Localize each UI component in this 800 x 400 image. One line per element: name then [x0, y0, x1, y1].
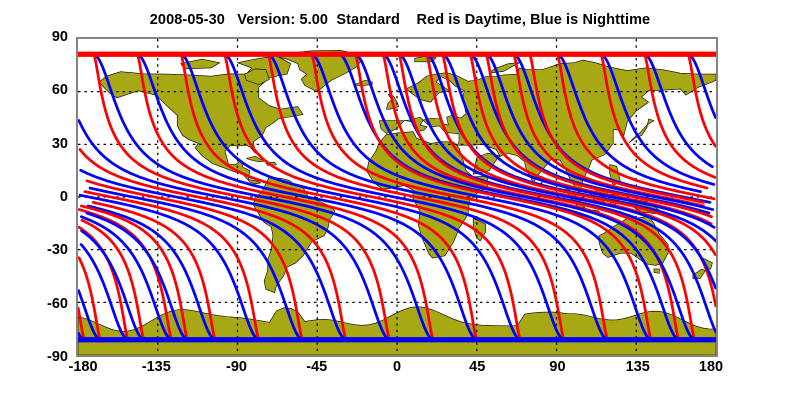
- y-tick--90: -90: [8, 350, 68, 365]
- x-tick--45: -45: [306, 360, 327, 375]
- y-tick-60: 60: [8, 83, 68, 98]
- x-tick--135: -135: [142, 360, 171, 375]
- y-tick--60: -60: [8, 296, 68, 311]
- y-tick--30: -30: [8, 243, 68, 258]
- y-axis-ticks: 9060300-30-60-90: [0, 0, 800, 400]
- x-tick-180: 180: [699, 360, 723, 375]
- x-tick--90: -90: [226, 360, 247, 375]
- x-tick-0: 0: [393, 360, 401, 375]
- satellite-ground-track-figure: 2008-05-30 Version: 5.00 Standard Red is…: [0, 0, 800, 400]
- y-tick-90: 90: [8, 30, 68, 45]
- x-tick-90: 90: [549, 360, 565, 375]
- x-tick-45: 45: [469, 360, 485, 375]
- y-tick-30: 30: [8, 136, 68, 151]
- x-tick--180: -180: [68, 360, 97, 375]
- y-tick-0: 0: [8, 190, 68, 205]
- x-tick-135: 135: [626, 360, 650, 375]
